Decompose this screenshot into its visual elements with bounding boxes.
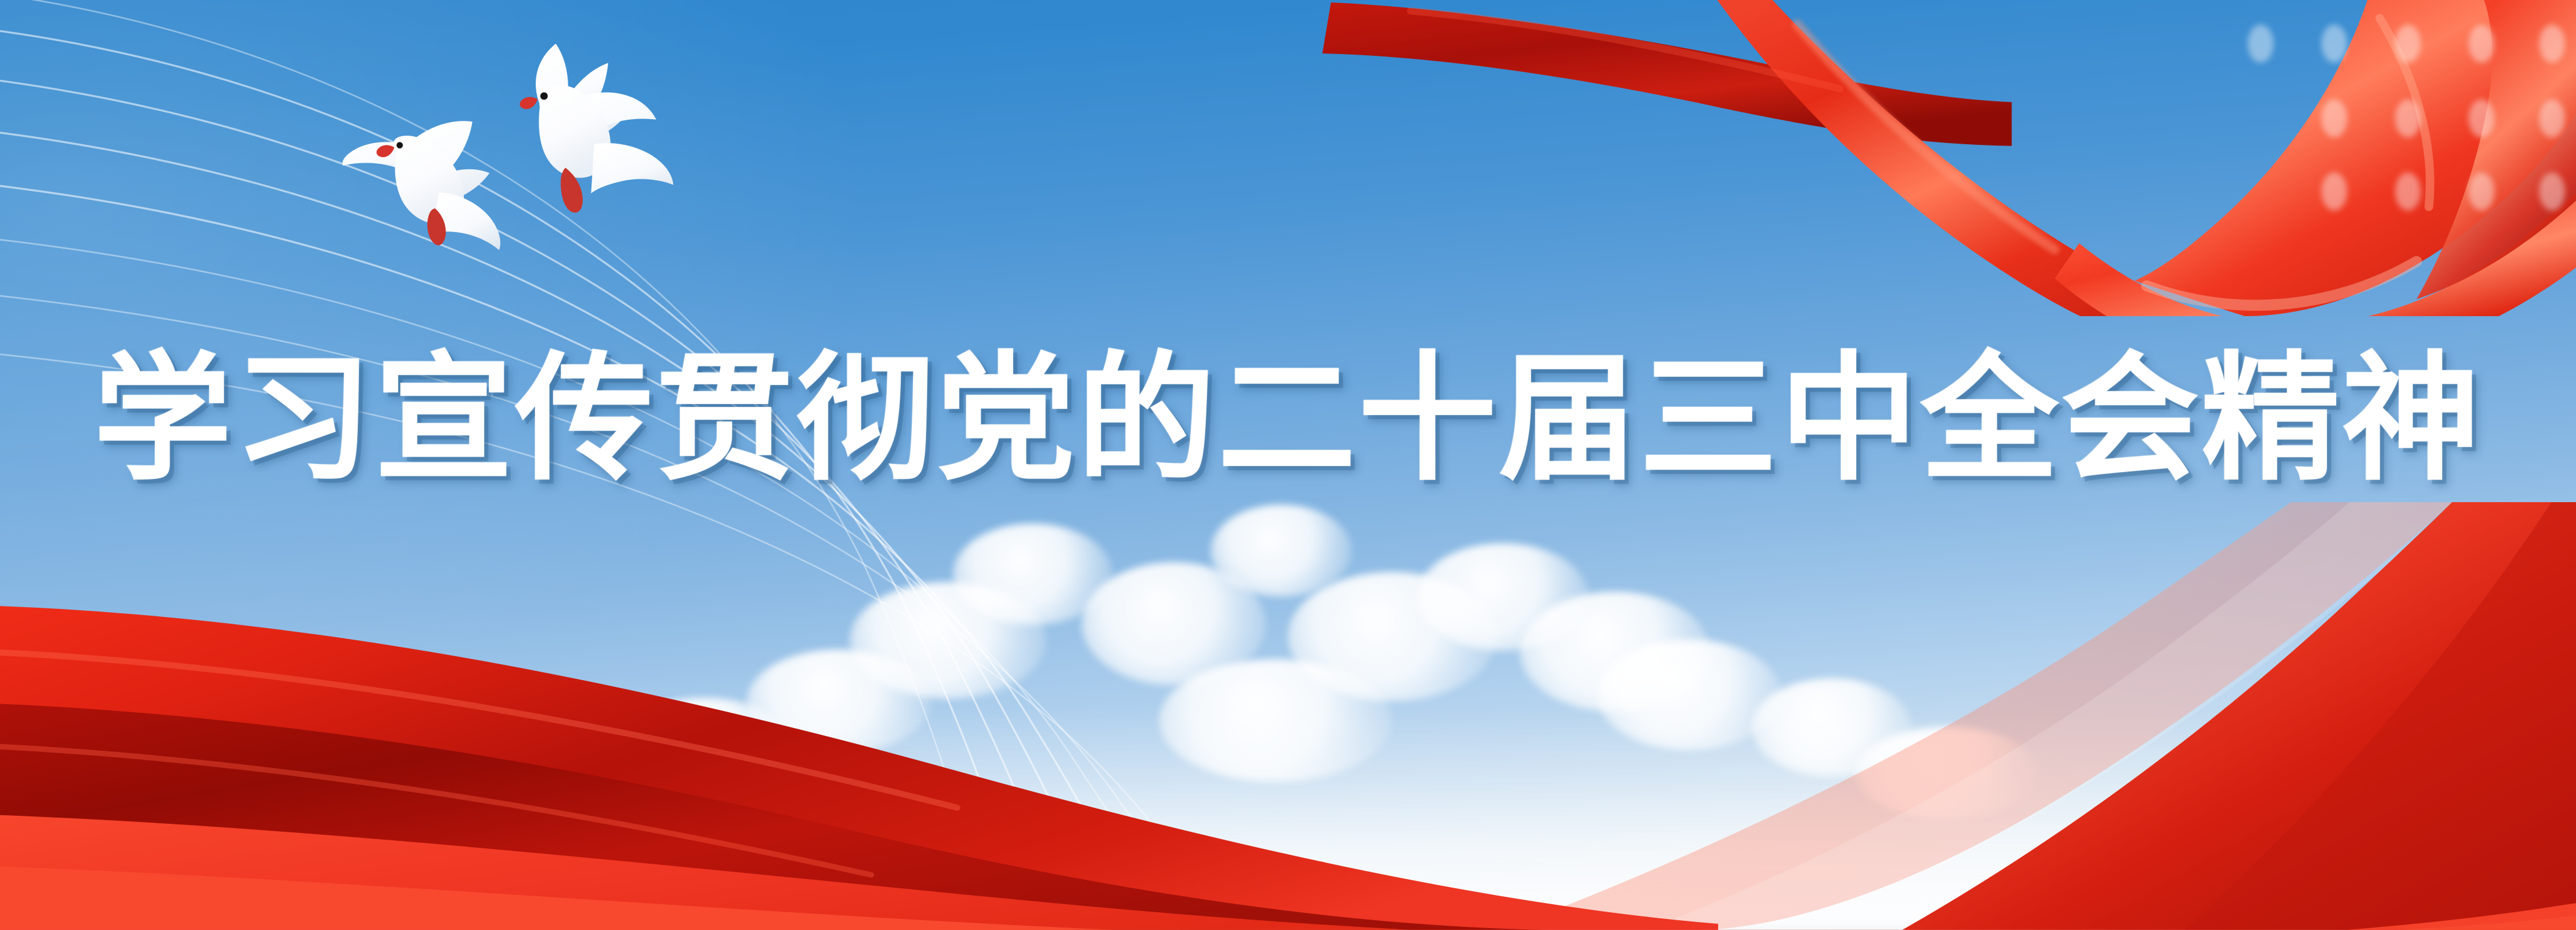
red-silk-ribbon [1288,0,2576,316]
propaganda-banner: 学习宣传贯彻党的二十届三中全会精神 [0,0,2576,930]
dove-lower [342,121,500,250]
dove-upper [520,44,673,212]
peace-doves [342,23,665,237]
red-satin-waves [0,502,2576,930]
